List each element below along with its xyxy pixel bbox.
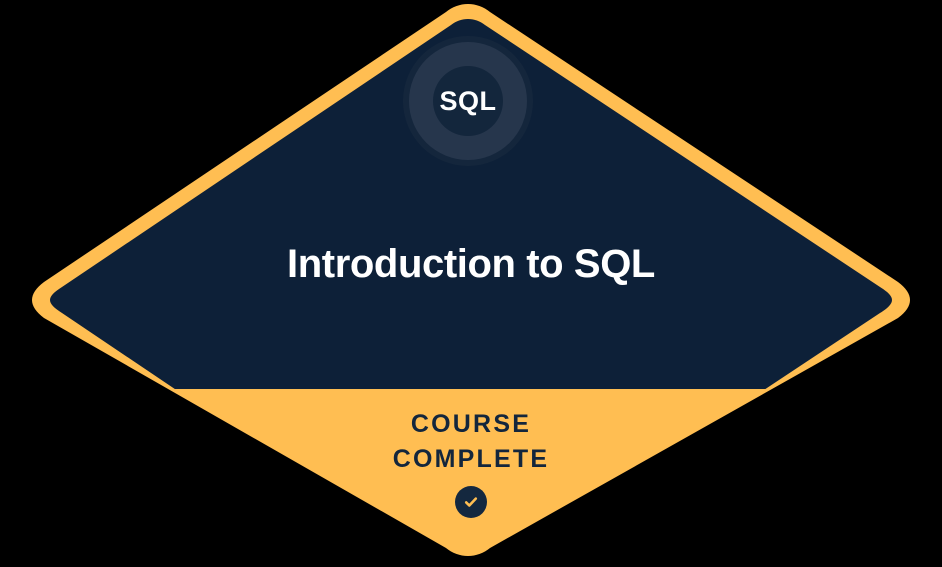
course-title: Introduction to SQL [0, 242, 942, 286]
status-label-line-2: COMPLETE [0, 442, 942, 477]
status-label-line-1: COURSE [0, 407, 942, 442]
sql-emblem-label: SQL [409, 42, 527, 160]
course-completion-badge: SQL Introduction to SQL COURSE COMPLETE [0, 0, 942, 567]
course-status-block: COURSE COMPLETE [0, 407, 942, 518]
check-circle-icon [455, 486, 487, 518]
